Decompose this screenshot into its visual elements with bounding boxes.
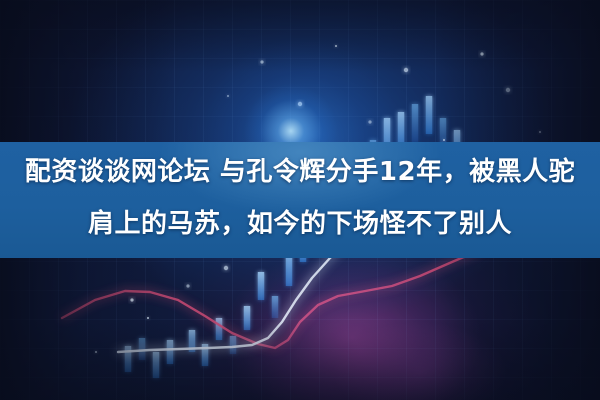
headline-line-2: 肩上的马苏，如今的下场怪不了别人 [14,198,586,250]
headline-text: 配资谈谈网论坛 与孔令辉分手12年，被黑人驼 肩上的马苏，如今的下场怪不了别人 [0,146,600,250]
banner-image: 配资谈谈网论坛 与孔令辉分手12年，被黑人驼 肩上的马苏，如今的下场怪不了别人 [0,0,600,400]
headline-line-1: 配资谈谈网论坛 与孔令辉分手12年，被黑人驼 [14,146,586,198]
